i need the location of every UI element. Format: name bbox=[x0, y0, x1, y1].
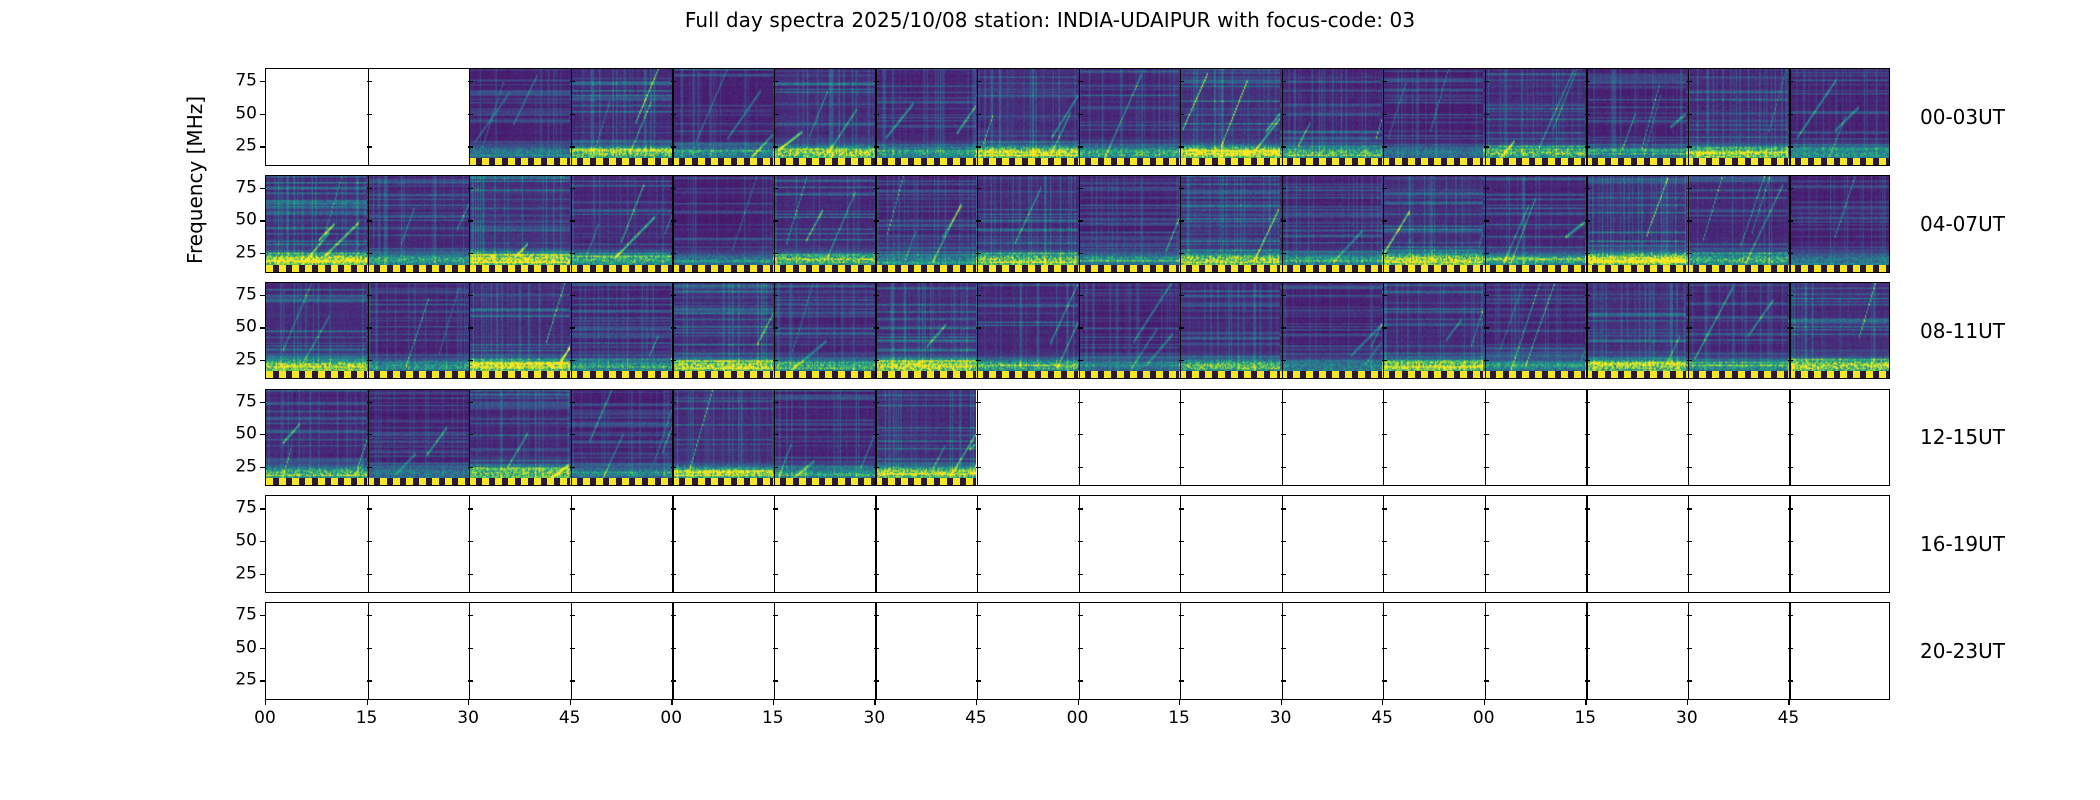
panel-inner-tick bbox=[1179, 220, 1184, 221]
panel-inner-tick bbox=[671, 434, 676, 435]
x-axis-tick-label: 30 bbox=[457, 708, 479, 728]
spectrogram-panel[interactable] bbox=[1179, 283, 1280, 379]
panel-inner-tick bbox=[1382, 574, 1387, 575]
spectrogram-image bbox=[672, 283, 773, 379]
empty-panel[interactable] bbox=[1078, 496, 1179, 592]
spectrogram-image bbox=[1788, 283, 1889, 379]
panel-inner-tick bbox=[1382, 541, 1387, 542]
spectrogram-image bbox=[976, 176, 1077, 272]
panel-separator bbox=[1383, 176, 1384, 272]
panel-inner-tick bbox=[1281, 434, 1286, 435]
panel-inner-tick bbox=[1078, 508, 1083, 509]
spectrogram-panel[interactable] bbox=[976, 69, 1077, 165]
x-axis-tick bbox=[1484, 700, 1485, 705]
empty-panel[interactable] bbox=[1483, 496, 1584, 592]
data-availability-marker bbox=[1382, 265, 1483, 272]
panel-inner-tick bbox=[773, 220, 778, 221]
empty-panel[interactable] bbox=[1788, 603, 1889, 699]
panel-inner-tick bbox=[1788, 220, 1793, 221]
x-axis-tick-label: 15 bbox=[762, 708, 784, 728]
panel-inner-tick bbox=[1179, 402, 1184, 403]
data-availability-marker bbox=[773, 265, 874, 272]
panel-inner-tick bbox=[1687, 434, 1692, 435]
spectrogram-row: 25507500-03UT bbox=[265, 68, 1890, 166]
panel-inner-tick bbox=[1382, 508, 1387, 509]
panel-separator bbox=[571, 283, 572, 379]
y-axis-tick bbox=[260, 253, 265, 254]
x-axis-tick bbox=[1078, 700, 1079, 705]
data-availability-marker bbox=[1483, 158, 1584, 165]
panel-separator bbox=[1383, 390, 1384, 486]
panel-inner-tick bbox=[671, 81, 676, 82]
panel-inner-tick bbox=[1281, 508, 1286, 509]
panel-inner-tick bbox=[671, 146, 676, 147]
data-availability-marker bbox=[875, 158, 976, 165]
spectrogram-image bbox=[469, 283, 570, 379]
empty-panel[interactable] bbox=[469, 603, 570, 699]
empty-panel[interactable] bbox=[976, 603, 1077, 699]
spectrogram-panel[interactable] bbox=[1788, 283, 1889, 379]
panel-inner-tick bbox=[671, 467, 676, 468]
panel-inner-tick bbox=[976, 574, 981, 575]
y-axis-tick-label: 25 bbox=[235, 565, 257, 582]
spectrogram-image bbox=[1788, 69, 1889, 165]
spectrogram-row: 25507504-07UT bbox=[265, 175, 1890, 273]
x-axis-tick-label: 00 bbox=[254, 708, 276, 728]
data-availability-marker bbox=[1483, 371, 1584, 378]
spectrogram-panel[interactable] bbox=[1585, 283, 1686, 379]
y-axis-tick bbox=[260, 360, 265, 361]
panel-inner-tick bbox=[1078, 220, 1083, 221]
panel-inner-tick bbox=[1585, 360, 1590, 361]
panel-inner-tick bbox=[1687, 574, 1692, 575]
panel-separator bbox=[875, 390, 876, 486]
data-availability-marker bbox=[570, 371, 671, 378]
spectrogram-panel[interactable] bbox=[1179, 176, 1280, 272]
panel-inner-tick bbox=[468, 574, 473, 575]
spectrogram-panel[interactable] bbox=[1382, 176, 1483, 272]
spectrogram-panel[interactable] bbox=[875, 390, 976, 486]
panel-inner-tick bbox=[1078, 574, 1083, 575]
panel-inner-tick bbox=[773, 253, 778, 254]
panel-strip bbox=[266, 69, 1889, 165]
spectrogram-panel[interactable] bbox=[1483, 69, 1584, 165]
spectrogram-panel[interactable] bbox=[1686, 69, 1787, 165]
spectrogram-panel[interactable] bbox=[875, 283, 976, 379]
spectrogram-panel[interactable] bbox=[1585, 176, 1686, 272]
panel-inner-tick bbox=[1281, 574, 1286, 575]
data-availability-marker bbox=[1179, 371, 1280, 378]
panel-inner-tick bbox=[570, 541, 575, 542]
spectrogram-panel[interactable] bbox=[570, 390, 671, 486]
panel-inner-tick bbox=[1281, 114, 1286, 115]
panel-strip bbox=[266, 176, 1889, 272]
empty-panel[interactable] bbox=[1179, 603, 1280, 699]
panel-inner-tick bbox=[773, 146, 778, 147]
empty-panel[interactable] bbox=[1280, 496, 1381, 592]
panel-inner-tick bbox=[1179, 615, 1184, 616]
empty-panel[interactable] bbox=[1788, 390, 1889, 486]
panel-inner-tick bbox=[367, 508, 372, 509]
spectrogram-panel[interactable] bbox=[1483, 283, 1584, 379]
empty-panel[interactable] bbox=[1585, 603, 1686, 699]
panel-separator bbox=[368, 283, 369, 379]
row-axes bbox=[265, 68, 1890, 166]
panel-inner-tick bbox=[1179, 146, 1184, 147]
panel-inner-tick bbox=[976, 467, 981, 468]
y-axis-tick bbox=[260, 434, 265, 435]
panel-inner-tick bbox=[1382, 327, 1387, 328]
data-availability-marker bbox=[570, 158, 671, 165]
empty-panel[interactable] bbox=[570, 496, 671, 592]
spectrogram-panel[interactable] bbox=[976, 176, 1077, 272]
panel-inner-tick bbox=[1585, 220, 1590, 221]
row-axes bbox=[265, 602, 1890, 700]
panel-inner-tick bbox=[1179, 114, 1184, 115]
panel-inner-tick bbox=[367, 188, 372, 189]
panel-separator bbox=[672, 603, 673, 699]
spectrogram-panel[interactable] bbox=[469, 283, 570, 379]
panel-inner-tick bbox=[1788, 434, 1793, 435]
panel-separator bbox=[1485, 603, 1486, 699]
empty-panel[interactable] bbox=[773, 496, 874, 592]
spectrogram-panel[interactable] bbox=[773, 390, 874, 486]
spectrogram-panel[interactable] bbox=[773, 176, 874, 272]
panel-inner-tick bbox=[1484, 220, 1489, 221]
panel-inner-tick bbox=[1179, 648, 1184, 649]
spectrogram-image bbox=[1382, 176, 1483, 272]
empty-panel[interactable] bbox=[367, 496, 468, 592]
panel-inner-tick bbox=[570, 253, 575, 254]
panel-inner-tick bbox=[874, 327, 879, 328]
row-time-label: 08-11UT bbox=[1920, 319, 2005, 343]
y-axis-tick bbox=[260, 541, 265, 542]
panel-inner-tick bbox=[1687, 188, 1692, 189]
panel-inner-tick bbox=[1281, 360, 1286, 361]
y-axis-tick-label: 75 bbox=[235, 286, 257, 303]
empty-panel[interactable] bbox=[1686, 390, 1787, 486]
spectrogram-image bbox=[469, 176, 570, 272]
spectrogram-figure: Full day spectra 2025/10/08 station: IND… bbox=[0, 0, 2100, 800]
empty-panel[interactable] bbox=[1483, 603, 1584, 699]
row-axes bbox=[265, 282, 1890, 380]
panel-separator bbox=[774, 283, 775, 379]
empty-panel[interactable] bbox=[672, 603, 773, 699]
panel-inner-tick bbox=[1788, 648, 1793, 649]
spectrogram-panel[interactable] bbox=[266, 283, 367, 379]
panel-inner-tick bbox=[773, 680, 778, 681]
panel-separator bbox=[1485, 69, 1486, 165]
spectrogram-panel[interactable] bbox=[1078, 69, 1179, 165]
empty-panel[interactable] bbox=[976, 390, 1077, 486]
spectrogram-panel[interactable] bbox=[1179, 69, 1280, 165]
spectrogram-panel[interactable] bbox=[672, 390, 773, 486]
panel-inner-tick bbox=[1687, 81, 1692, 82]
panel-inner-tick bbox=[1179, 360, 1184, 361]
data-availability-marker bbox=[976, 265, 1077, 272]
spectrogram-panel[interactable] bbox=[1483, 176, 1584, 272]
panel-inner-tick bbox=[671, 360, 676, 361]
spectrogram-panel[interactable] bbox=[1280, 69, 1381, 165]
panel-separator bbox=[1586, 69, 1587, 165]
panel-inner-tick bbox=[1484, 253, 1489, 254]
empty-panel[interactable] bbox=[469, 496, 570, 592]
spectrogram-image bbox=[1382, 283, 1483, 379]
empty-panel[interactable] bbox=[875, 603, 976, 699]
spectrogram-panel[interactable] bbox=[1382, 283, 1483, 379]
panel-inner-tick bbox=[1078, 146, 1083, 147]
spectrogram-panel[interactable] bbox=[469, 176, 570, 272]
spectrogram-panel[interactable] bbox=[570, 176, 671, 272]
spectrogram-image bbox=[367, 390, 468, 486]
panel-separator bbox=[875, 176, 876, 272]
spectrogram-panel[interactable] bbox=[1686, 176, 1787, 272]
panel-inner-tick bbox=[1281, 648, 1286, 649]
panel-separator bbox=[774, 603, 775, 699]
panel-separator bbox=[469, 603, 470, 699]
data-availability-marker bbox=[1179, 158, 1280, 165]
empty-panel[interactable] bbox=[1078, 390, 1179, 486]
panel-inner-tick bbox=[976, 615, 981, 616]
y-axis-tick-label: 25 bbox=[235, 351, 257, 368]
panel-separator bbox=[469, 176, 470, 272]
panel-inner-tick bbox=[1382, 188, 1387, 189]
panel-inner-tick bbox=[468, 467, 473, 468]
panel-inner-tick bbox=[874, 81, 879, 82]
spectrogram-image bbox=[672, 69, 773, 165]
x-axis-tick bbox=[1788, 700, 1789, 705]
panel-separator bbox=[1282, 176, 1283, 272]
spectrogram-panel[interactable] bbox=[570, 69, 671, 165]
panel-inner-tick bbox=[570, 648, 575, 649]
panel-inner-tick bbox=[773, 541, 778, 542]
panel-inner-tick bbox=[874, 680, 879, 681]
panel-inner-tick bbox=[570, 434, 575, 435]
y-axis-tick-label: 50 bbox=[235, 532, 257, 549]
spectrogram-panel[interactable] bbox=[266, 176, 367, 272]
panel-inner-tick bbox=[1687, 114, 1692, 115]
data-availability-marker bbox=[266, 265, 367, 272]
panel-separator bbox=[1688, 69, 1689, 165]
empty-panel[interactable] bbox=[1078, 603, 1179, 699]
y-axis-tick bbox=[260, 402, 265, 403]
spectrogram-panel[interactable] bbox=[1788, 69, 1889, 165]
panel-separator bbox=[1586, 390, 1587, 486]
data-availability-marker bbox=[773, 478, 874, 485]
panel-separator bbox=[1485, 390, 1486, 486]
empty-panel[interactable] bbox=[1382, 390, 1483, 486]
panel-inner-tick bbox=[1585, 680, 1590, 681]
empty-panel[interactable] bbox=[1686, 603, 1787, 699]
empty-panel[interactable] bbox=[976, 496, 1077, 592]
x-axis-tick-label: 45 bbox=[1371, 708, 1393, 728]
empty-panel[interactable] bbox=[1382, 603, 1483, 699]
spectrogram-panel[interactable] bbox=[1078, 176, 1179, 272]
row-axes bbox=[265, 495, 1890, 593]
spectrogram-panel[interactable] bbox=[672, 69, 773, 165]
panel-inner-tick bbox=[1585, 402, 1590, 403]
panel-inner-tick bbox=[468, 295, 473, 296]
panel-separator bbox=[1180, 283, 1181, 379]
data-availability-marker bbox=[1788, 371, 1889, 378]
empty-panel[interactable] bbox=[1179, 390, 1280, 486]
panel-inner-tick bbox=[1788, 295, 1793, 296]
empty-panel[interactable] bbox=[1483, 390, 1584, 486]
spectrogram-panel[interactable] bbox=[367, 283, 468, 379]
panel-inner-tick bbox=[874, 220, 879, 221]
panel-inner-tick bbox=[1484, 327, 1489, 328]
panel-strip bbox=[266, 496, 1889, 592]
spectrogram-image bbox=[1788, 176, 1889, 272]
panel-inner-tick bbox=[570, 114, 575, 115]
panel-inner-tick bbox=[773, 615, 778, 616]
spectrogram-image bbox=[875, 69, 976, 165]
spectrogram-panel[interactable] bbox=[672, 283, 773, 379]
panel-inner-tick bbox=[1687, 327, 1692, 328]
empty-panel[interactable] bbox=[266, 69, 367, 165]
empty-panel[interactable] bbox=[367, 603, 468, 699]
spectrogram-image bbox=[1280, 69, 1381, 165]
panel-inner-tick bbox=[367, 114, 372, 115]
panel-inner-tick bbox=[874, 434, 879, 435]
panel-inner-tick bbox=[874, 146, 879, 147]
y-axis-tick-label: 25 bbox=[235, 138, 257, 155]
spectrogram-panel[interactable] bbox=[1280, 283, 1381, 379]
spectrogram-image bbox=[1179, 283, 1280, 379]
spectrogram-panel[interactable] bbox=[1788, 176, 1889, 272]
panel-inner-tick bbox=[976, 81, 981, 82]
spectrogram-panel[interactable] bbox=[672, 176, 773, 272]
panel-inner-tick bbox=[1484, 541, 1489, 542]
data-availability-marker bbox=[1585, 265, 1686, 272]
x-axis-tick-label: 00 bbox=[1473, 708, 1495, 728]
panel-inner-tick bbox=[976, 434, 981, 435]
empty-panel[interactable] bbox=[1585, 390, 1686, 486]
spectrogram-panel[interactable] bbox=[875, 69, 976, 165]
panel-separator bbox=[774, 176, 775, 272]
x-axis-tick bbox=[1687, 700, 1688, 705]
spectrogram-image bbox=[469, 390, 570, 486]
row-time-label: 04-07UT bbox=[1920, 212, 2005, 236]
panel-inner-tick bbox=[367, 434, 372, 435]
page-title: Full day spectra 2025/10/08 station: IND… bbox=[0, 8, 2100, 32]
panel-inner-tick bbox=[874, 295, 879, 296]
empty-panel[interactable] bbox=[1585, 496, 1686, 592]
panel-separator bbox=[1789, 496, 1790, 592]
empty-panel[interactable] bbox=[266, 603, 367, 699]
spectrogram-panel[interactable] bbox=[266, 390, 367, 486]
spectrogram-image bbox=[367, 176, 468, 272]
data-availability-marker bbox=[570, 265, 671, 272]
empty-panel[interactable] bbox=[1179, 496, 1280, 592]
panel-separator bbox=[875, 603, 876, 699]
x-axis-tick bbox=[874, 700, 875, 705]
panel-inner-tick bbox=[1687, 541, 1692, 542]
panel-inner-tick bbox=[1585, 327, 1590, 328]
panel-inner-tick bbox=[874, 467, 879, 468]
data-availability-marker bbox=[773, 158, 874, 165]
panel-inner-tick bbox=[1484, 402, 1489, 403]
panel-inner-tick bbox=[671, 615, 676, 616]
panel-inner-tick bbox=[1281, 188, 1286, 189]
data-availability-marker bbox=[1280, 371, 1381, 378]
panel-inner-tick bbox=[773, 434, 778, 435]
panel-inner-tick bbox=[671, 508, 676, 509]
empty-panel[interactable] bbox=[266, 496, 367, 592]
empty-panel[interactable] bbox=[773, 603, 874, 699]
panel-inner-tick bbox=[1382, 146, 1387, 147]
spectrogram-image bbox=[1078, 69, 1179, 165]
empty-panel[interactable] bbox=[570, 603, 671, 699]
panel-inner-tick bbox=[1382, 680, 1387, 681]
panel-inner-tick bbox=[671, 114, 676, 115]
spectrogram-panel[interactable] bbox=[773, 283, 874, 379]
panel-inner-tick bbox=[1281, 220, 1286, 221]
empty-panel[interactable] bbox=[1280, 603, 1381, 699]
panel-separator bbox=[1282, 69, 1283, 165]
panel-inner-tick bbox=[1687, 295, 1692, 296]
data-availability-marker bbox=[469, 158, 570, 165]
panel-inner-tick bbox=[1484, 146, 1489, 147]
data-availability-marker bbox=[672, 265, 773, 272]
panel-separator bbox=[571, 176, 572, 272]
spectrogram-panel[interactable] bbox=[469, 69, 570, 165]
spectrogram-panel[interactable] bbox=[1382, 69, 1483, 165]
spectrogram-panel[interactable] bbox=[1585, 69, 1686, 165]
panel-inner-tick bbox=[874, 508, 879, 509]
panel-inner-tick bbox=[1484, 434, 1489, 435]
panel-separator bbox=[1688, 496, 1689, 592]
spectrogram-panel[interactable] bbox=[367, 390, 468, 486]
panel-inner-tick bbox=[570, 508, 575, 509]
spectrogram-panel[interactable] bbox=[976, 283, 1077, 379]
panel-separator bbox=[875, 69, 876, 165]
empty-panel[interactable] bbox=[1686, 496, 1787, 592]
panel-inner-tick bbox=[773, 467, 778, 468]
spectrogram-panel[interactable] bbox=[570, 283, 671, 379]
panel-inner-tick bbox=[1382, 434, 1387, 435]
spectrogram-panel[interactable] bbox=[1686, 283, 1787, 379]
spectrogram-panel[interactable] bbox=[469, 390, 570, 486]
empty-panel[interactable] bbox=[1788, 496, 1889, 592]
panel-inner-tick bbox=[468, 434, 473, 435]
panel-separator bbox=[368, 69, 369, 165]
panel-inner-tick bbox=[367, 295, 372, 296]
data-availability-marker bbox=[1585, 158, 1686, 165]
spectrogram-image bbox=[570, 390, 671, 486]
empty-panel[interactable] bbox=[1382, 496, 1483, 592]
spectrogram-panel[interactable] bbox=[773, 69, 874, 165]
y-axis-tick bbox=[260, 188, 265, 189]
panel-separator bbox=[571, 390, 572, 486]
y-axis-tick bbox=[260, 615, 265, 616]
spectrogram-panel[interactable] bbox=[1280, 176, 1381, 272]
spectrogram-panel[interactable] bbox=[1078, 283, 1179, 379]
empty-panel[interactable] bbox=[875, 496, 976, 592]
spectrogram-panel[interactable] bbox=[875, 176, 976, 272]
panel-inner-tick bbox=[1382, 615, 1387, 616]
panel-inner-tick bbox=[1788, 360, 1793, 361]
panel-inner-tick bbox=[570, 188, 575, 189]
empty-panel[interactable] bbox=[367, 69, 468, 165]
x-axis-tick bbox=[468, 700, 469, 705]
empty-panel[interactable] bbox=[1280, 390, 1381, 486]
x-axis-tick bbox=[773, 700, 774, 705]
spectrogram-panel[interactable] bbox=[367, 176, 468, 272]
panel-separator bbox=[672, 496, 673, 592]
panel-inner-tick bbox=[570, 360, 575, 361]
empty-panel[interactable] bbox=[672, 496, 773, 592]
